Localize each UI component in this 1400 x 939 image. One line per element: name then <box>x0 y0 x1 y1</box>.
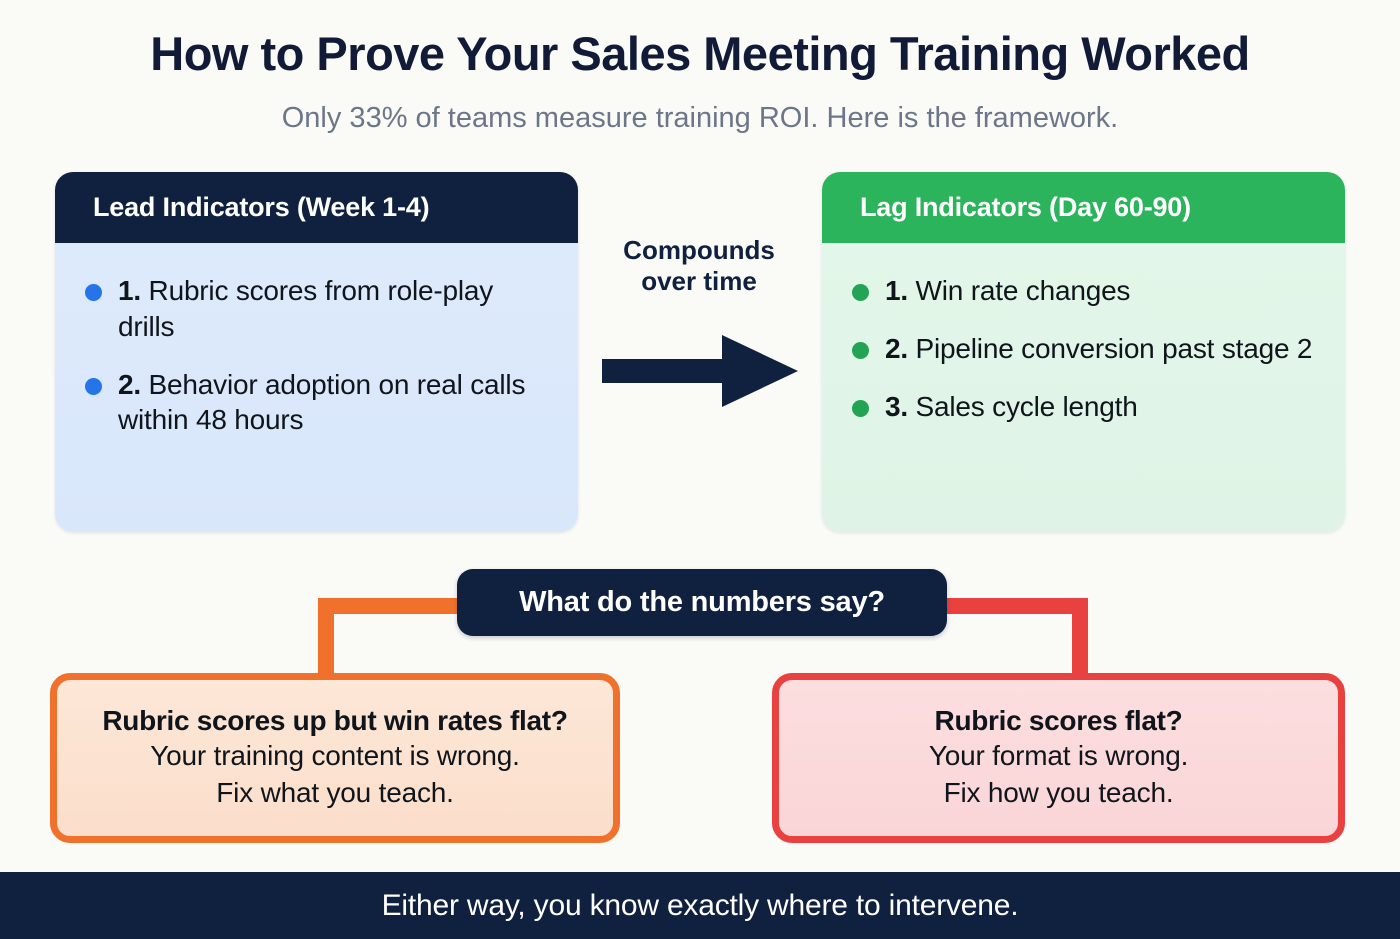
outcome-right-line-1: Your format is wrong. <box>929 738 1188 775</box>
question-pill: What do the numbers say? <box>457 569 947 636</box>
footer-bar: Either way, you know exactly where to in… <box>0 872 1400 939</box>
lag-item-2: 2. Pipeline conversion past stage 2 <box>885 331 1312 367</box>
lead-item-1-text: Rubric scores from role-play drills <box>118 275 493 342</box>
footer-text: Either way, you know exactly where to in… <box>382 889 1019 923</box>
compounds-over-time-label: Compounds over time <box>588 235 810 296</box>
lag-item-2-number: 2. <box>885 333 908 364</box>
page-subtitle: Only 33% of teams measure training ROI. … <box>0 101 1400 136</box>
bullet-dot-icon <box>85 378 102 395</box>
outcome-right-heading: Rubric scores flat? <box>935 704 1183 738</box>
infographic-canvas: How to Prove Your Sales Meeting Training… <box>0 0 1400 939</box>
bullet-dot-icon <box>852 400 869 417</box>
list-item: 1. Rubric scores from role-play drills <box>85 273 548 345</box>
bullet-dot-icon <box>85 284 102 301</box>
lead-item-2-text: Behavior adoption on real calls within 4… <box>118 369 525 436</box>
lag-item-1: 1. Win rate changes <box>885 273 1130 309</box>
outcome-right-line-2: Fix how you teach. <box>944 775 1174 812</box>
lag-indicators-card: Lag Indicators (Day 60-90) 1. Win rate c… <box>822 172 1345 532</box>
right-arrow-icon <box>602 335 798 407</box>
list-item: 2. Behavior adoption on real calls withi… <box>85 367 548 439</box>
outcome-left-heading: Rubric scores up but win rates flat? <box>102 704 567 738</box>
lag-item-1-number: 1. <box>885 275 908 306</box>
lag-item-3-number: 3. <box>885 391 908 422</box>
outcome-left-line-2: Fix what you teach. <box>216 775 453 812</box>
branch-connector-left-vertical <box>318 598 334 684</box>
outcome-card-content-wrong: Rubric scores up but win rates flat? You… <box>50 673 620 843</box>
outcome-left-line-1: Your training content is wrong. <box>150 738 519 775</box>
lead-indicators-header: Lead Indicators (Week 1-4) <box>55 172 578 243</box>
branch-connector-right-vertical <box>1072 598 1088 684</box>
lead-item-2-number: 2. <box>118 369 141 400</box>
lead-item-1: 1. Rubric scores from role-play drills <box>118 273 548 345</box>
page-title: How to Prove Your Sales Meeting Training… <box>0 28 1400 80</box>
list-item: 2. Pipeline conversion past stage 2 <box>852 331 1315 367</box>
compounds-line-2: over time <box>641 266 757 296</box>
list-item: 1. Win rate changes <box>852 273 1315 309</box>
bullet-dot-icon <box>852 342 869 359</box>
lag-indicators-header: Lag Indicators (Day 60-90) <box>822 172 1345 243</box>
outcome-card-format-wrong: Rubric scores flat? Your format is wrong… <box>772 673 1345 843</box>
lag-item-3-text: Sales cycle length <box>916 391 1138 422</box>
lag-indicators-body: 1. Win rate changes 2. Pipeline conversi… <box>822 243 1345 532</box>
lead-item-2: 2. Behavior adoption on real calls withi… <box>118 367 548 439</box>
list-item: 3. Sales cycle length <box>852 389 1315 425</box>
lead-item-1-number: 1. <box>118 275 141 306</box>
lag-item-1-text: Win rate changes <box>916 275 1131 306</box>
lead-indicators-card: Lead Indicators (Week 1-4) 1. Rubric sco… <box>55 172 578 532</box>
lag-item-2-text: Pipeline conversion past stage 2 <box>916 333 1313 364</box>
lag-item-3: 3. Sales cycle length <box>885 389 1138 425</box>
bullet-dot-icon <box>852 284 869 301</box>
compounds-line-1: Compounds <box>623 235 775 265</box>
lead-indicators-body: 1. Rubric scores from role-play drills 2… <box>55 243 578 532</box>
